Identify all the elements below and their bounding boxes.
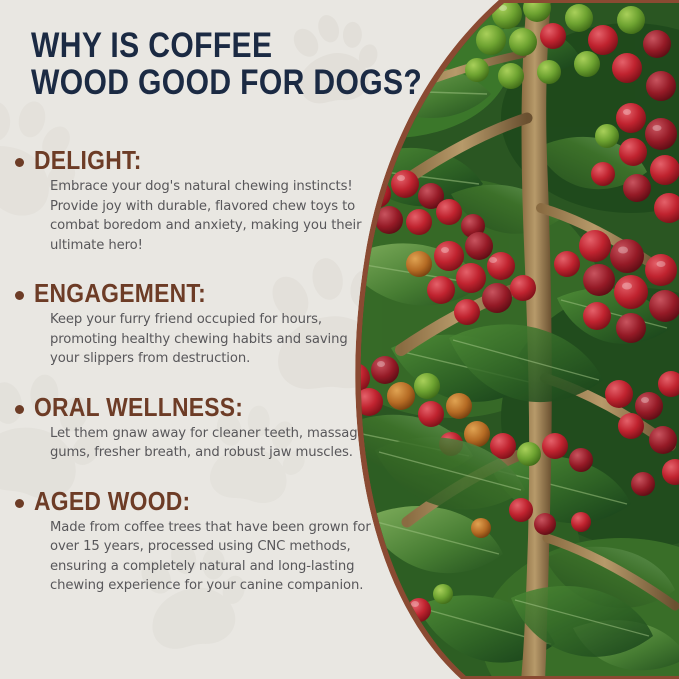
benefit-heading: DELIGHT: (34, 146, 338, 174)
benefits-list: DELIGHT: Embrace your dog's natural chew… (12, 146, 380, 620)
benefit-item-engagement: ENGAGEMENT: Keep your furry friend occup… (12, 279, 380, 369)
bullet-dot-icon (15, 291, 24, 300)
benefit-body: Embrace your dog's natural chewing insti… (34, 177, 380, 255)
bullet-dot-icon (15, 158, 24, 167)
benefit-heading: AGED WOOD: (34, 487, 338, 515)
page-title-line-1: WHY IS COFFEE (31, 27, 323, 64)
benefit-heading: ENGAGEMENT: (34, 279, 338, 307)
benefit-heading: ORAL WELLNESS: (34, 393, 338, 421)
page-title-line-2: WOOD GOOD FOR DOGS? (31, 64, 323, 101)
benefit-body: Made from coffee trees that have been gr… (34, 518, 380, 596)
text-column: WHY IS COFFEE WOOD GOOD FOR DOGS? DELIGH… (0, 0, 380, 679)
bullet-dot-icon (15, 405, 24, 414)
page-title: WHY IS COFFEE WOOD GOOD FOR DOGS? (31, 27, 323, 101)
infographic-poster: WHY IS COFFEE WOOD GOOD FOR DOGS? DELIGH… (0, 0, 679, 679)
benefit-item-oral-wellness: ORAL WELLNESS: Let them gnaw away for cl… (12, 393, 380, 463)
benefit-item-aged-wood: AGED WOOD: Made from coffee trees that h… (12, 487, 380, 596)
benefit-body: Let them gnaw away for cleaner teeth, ma… (34, 424, 380, 463)
benefit-body: Keep your furry friend occupied for hour… (34, 310, 380, 369)
bullet-dot-icon (15, 499, 24, 508)
benefit-item-delight: DELIGHT: Embrace your dog's natural chew… (12, 146, 380, 255)
